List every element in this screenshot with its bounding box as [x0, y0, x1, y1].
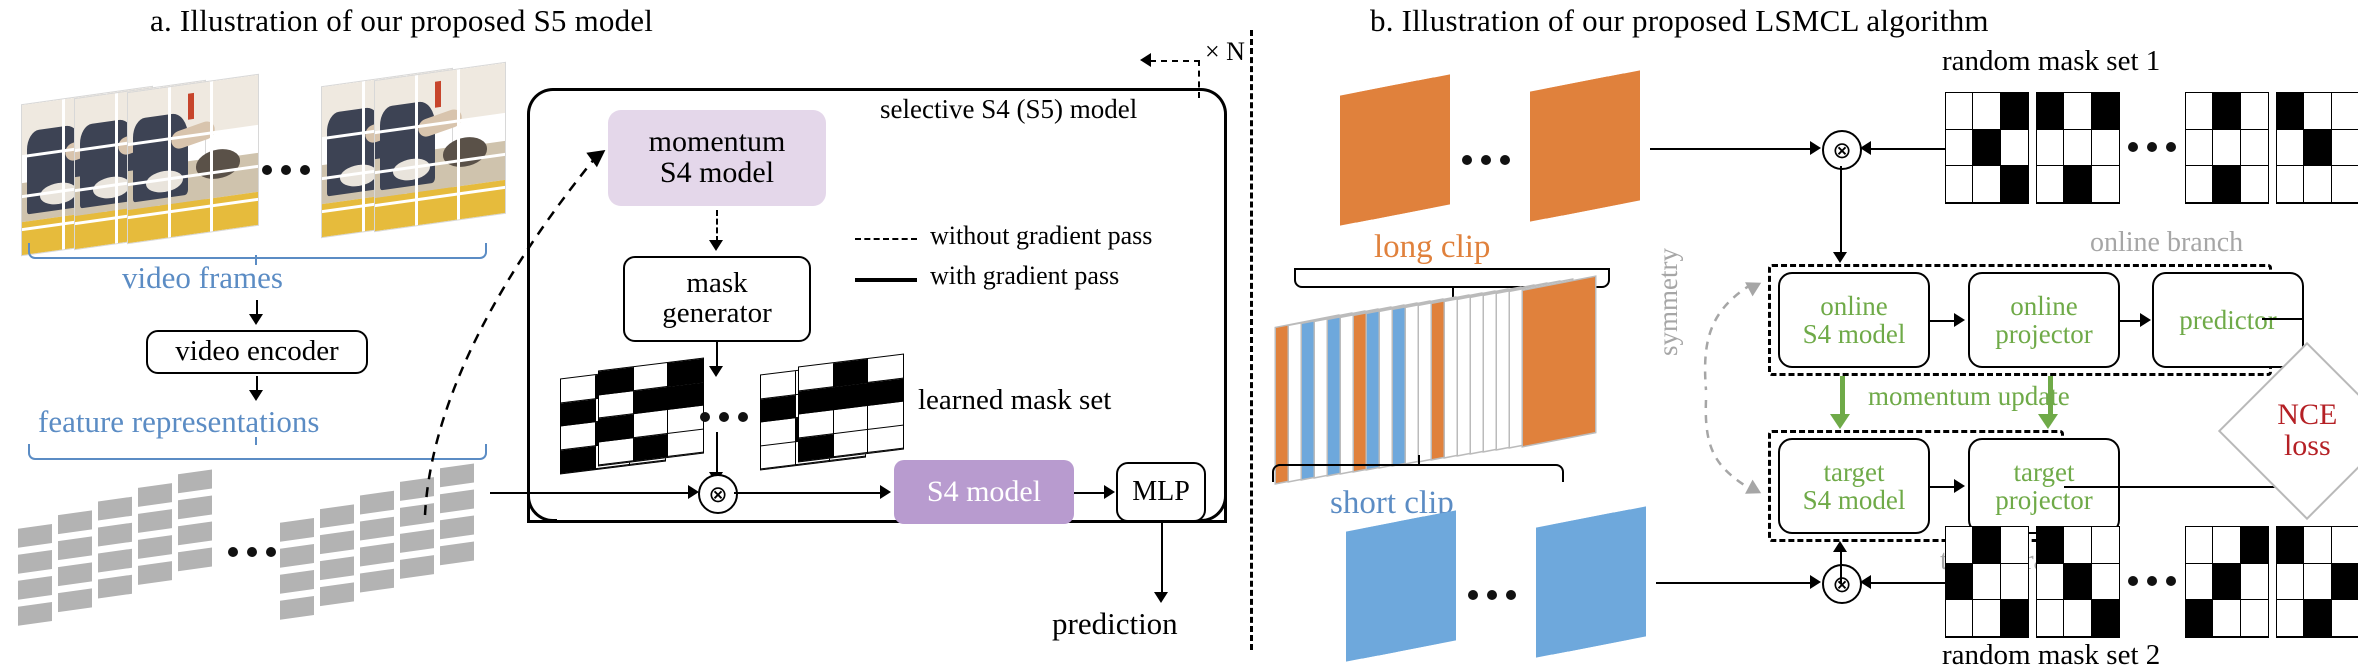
- nce-loss-label-line1: NCE: [2277, 398, 2337, 431]
- panel-divider: [1250, 30, 1253, 650]
- predictor-label: predictor: [2179, 306, 2276, 334]
- feature-representations-label: feature representations: [38, 406, 319, 439]
- mask-generator-label-line2: generator: [662, 299, 772, 329]
- symmetry-label: symmetry: [1654, 248, 1682, 356]
- long-clip-label: long clip: [1374, 230, 1490, 265]
- random-mask-set-1-label: random mask set 1: [1942, 46, 2160, 76]
- momentum-s4-model-label-line1: momentum: [649, 127, 786, 158]
- tensor-product-symbol-bottom: ⊗: [1832, 573, 1851, 596]
- online-s4-model-box[interactable]: online S4 model: [1778, 272, 1930, 368]
- mask-set-1-ellipsis: [2128, 142, 2176, 152]
- legend-dashed-sample: [855, 238, 917, 240]
- momentum-s4-model-box[interactable]: momentum S4 model: [608, 110, 826, 206]
- video-encoder-box[interactable]: video encoder: [146, 330, 368, 374]
- nce-loss-label-line2: loss: [2284, 429, 2331, 462]
- momentum-update-line-left: [1840, 376, 1845, 416]
- online-s4-to-projector-head: [1954, 313, 1965, 327]
- feature-representations-brace-nub: [255, 437, 257, 445]
- tensor-product-symbol: ⊗: [708, 483, 727, 506]
- maskset2-to-product-head: [1860, 575, 1871, 589]
- target-s4-model-box[interactable]: target S4 model: [1778, 438, 1930, 534]
- video-frames-brace: [28, 243, 487, 259]
- predictor-to-nce-line: [2262, 318, 2304, 320]
- mask-generator-box[interactable]: mask generator: [623, 256, 811, 342]
- mlp-to-prediction-head: [1154, 592, 1168, 603]
- s4-to-mlp-line: [1074, 492, 1106, 494]
- momentum-s4-model-label-line2: S4 model: [660, 158, 774, 189]
- mask-set-2-ellipsis: [2128, 576, 2176, 586]
- s4-model-label: S4 model: [927, 477, 1041, 508]
- short-clip-brace: [1272, 464, 1564, 482]
- recurrence-loop-arrow: [1140, 53, 1151, 67]
- momentum-update-label: momentum update: [1868, 382, 2070, 410]
- target-projector-label-line2: projector: [1995, 486, 2092, 514]
- recurrence-loop-top: [1150, 60, 1200, 62]
- selective-s4-model-label: selective S4 (S5) model: [880, 95, 1137, 123]
- target-s4-model-label-line1: target: [1824, 458, 1885, 486]
- online-s4-model-label-line1: online: [1820, 292, 1888, 320]
- panel-b-title: b. Illustration of our proposed LSMCL al…: [1370, 5, 1989, 38]
- momentum-update-head-right: [2038, 414, 2058, 429]
- target-projector-label-line1: target: [2014, 458, 2075, 486]
- product-bottom-to-target-head: [1833, 541, 1847, 552]
- target-projector-to-nce-line: [2064, 486, 2304, 488]
- maskset1-to-product-head: [1860, 141, 1871, 155]
- online-projector-label-line1: online: [2010, 292, 2078, 320]
- online-s4-to-projector-line: [1930, 320, 1956, 322]
- tensor-product-operator: ⊗: [698, 474, 738, 514]
- product-top-to-online-line: [1840, 166, 1842, 254]
- prediction-label: prediction: [1052, 608, 1178, 641]
- maskgen-down-line: [716, 342, 718, 368]
- shortclip-to-product-line: [1656, 582, 1812, 584]
- mlp-label: MLP: [1132, 478, 1190, 507]
- mask-to-product-line: [716, 432, 718, 474]
- online-projector-label-line2: projector: [1995, 320, 2092, 348]
- mask-set-ellipsis: [700, 412, 748, 422]
- recurrence-loop-line: [1198, 60, 1200, 98]
- shortclip-to-product-head: [1810, 575, 1821, 589]
- product-to-s4-head: [880, 485, 891, 499]
- features-to-product-line: [490, 492, 688, 494]
- video-frame: [128, 75, 258, 243]
- feature-representations-brace: [28, 444, 487, 460]
- arrow-to-encoder-head: [249, 314, 263, 325]
- maskset1-to-product-line: [1870, 148, 1946, 150]
- momentum-to-maskgen-head: [709, 240, 723, 251]
- online-branch-label: online branch: [2090, 228, 2243, 257]
- legend-dashed-label: without gradient pass: [930, 222, 1152, 249]
- tensor-product-operator-bottom: ⊗: [1822, 564, 1862, 604]
- video-frames-label: video frames: [122, 262, 283, 295]
- tensor-product-operator-top: ⊗: [1822, 130, 1862, 170]
- mlp-box[interactable]: MLP: [1116, 462, 1206, 522]
- mask-generator-label-line1: mask: [686, 269, 747, 299]
- mlp-to-prediction-line: [1161, 522, 1163, 594]
- momentum-update-head-left: [1830, 414, 1850, 429]
- panel-a-title: a. Illustration of our proposed S5 model: [150, 5, 653, 38]
- momentum-to-maskgen-line: [716, 210, 718, 242]
- random-mask-set-2-label: random mask set 2: [1942, 640, 2160, 670]
- symmetry-dashed-paths: [1690, 270, 1800, 520]
- figure-root: a. Illustration of our proposed S5 model…: [0, 0, 2358, 668]
- longclip-to-product-line: [1650, 148, 1812, 150]
- online-projector-box[interactable]: online projector: [1968, 272, 2120, 368]
- arrow-encoder-to-features-head: [249, 390, 263, 401]
- online-projector-to-predictor-head: [2140, 313, 2151, 327]
- maskset2-to-product-line: [1870, 582, 1946, 584]
- tensor-product-symbol-top: ⊗: [1832, 139, 1851, 162]
- target-s4-model-label-line2: S4 model: [1803, 486, 1906, 514]
- frames-ellipsis: [262, 165, 310, 175]
- maskgen-down-head: [709, 366, 723, 377]
- legend-solid-label: with gradient pass: [930, 262, 1119, 289]
- video-encoder-label: video encoder: [175, 337, 338, 367]
- short-clip-ellipsis: [1468, 590, 1516, 600]
- product-top-to-online-head: [1833, 252, 1847, 263]
- repeat-n-label: × N: [1205, 38, 1245, 65]
- long-clip-ellipsis: [1462, 155, 1510, 165]
- target-s4-to-projector-line: [1930, 486, 1956, 488]
- online-projector-to-predictor-line: [2120, 320, 2142, 322]
- s4-model-box[interactable]: S4 model: [894, 460, 1074, 524]
- product-bottom-to-target-line: [1840, 552, 1842, 584]
- learned-mask-set-label: learned mask set: [918, 385, 1111, 415]
- longclip-to-product-head: [1810, 141, 1821, 155]
- s4-to-mlp-head: [1104, 485, 1115, 499]
- legend-solid-sample: [855, 278, 917, 282]
- features-ellipsis: [228, 547, 276, 557]
- target-s4-to-projector-head: [1954, 479, 1965, 493]
- online-s4-model-label-line2: S4 model: [1803, 320, 1906, 348]
- predictor-box[interactable]: predictor: [2152, 272, 2304, 368]
- product-to-s4-line: [734, 492, 880, 494]
